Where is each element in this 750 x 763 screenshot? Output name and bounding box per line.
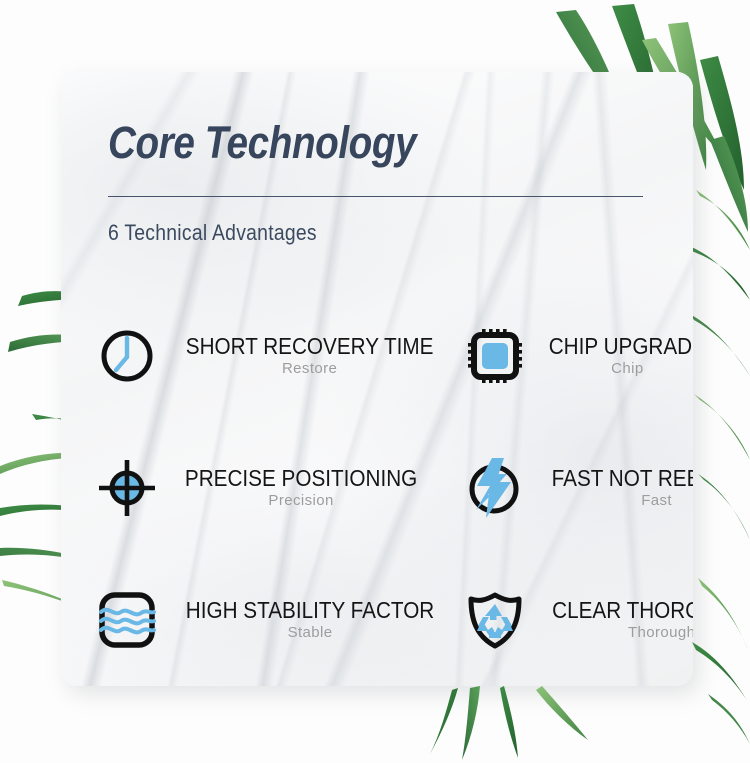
chip-icon [462,323,528,389]
feature-sublabel: Fast [641,493,672,510]
feature-sublabel: Thorough [628,625,693,642]
advantages-grid: SHORT RECOVERY TIME Restore [94,290,669,686]
page-title: Core Technology [108,117,416,169]
feature-label: CHIP UPGRADE [549,334,693,358]
leaf-cluster-bottom-right [692,578,750,744]
feature-label: SHORT RECOVERY TIME [186,334,434,358]
feature-text: FAST NOT REBOUND Fast [540,466,693,510]
feature-item: HIGH STABILITY FACTOR Stable [94,554,448,686]
recycle-shield-icon [462,587,528,653]
leaf-cluster-right [684,190,750,540]
poster-canvas: Core Technology 6 Technical Advantages S… [0,0,750,763]
clock-icon [94,323,160,389]
lightning-bolt-icon [462,455,528,521]
feature-label: FAST NOT REBOUND [552,466,693,490]
feature-text: CLEAR THOROUGHLY Thorough [540,598,693,642]
feature-label: PRECISE POSITIONING [185,466,417,490]
feature-sublabel: Chip [611,361,643,378]
crosshair-icon [94,455,160,521]
feature-label: HIGH STABILITY FACTOR [186,598,434,622]
feature-text: HIGH STABILITY FACTOR Stable [172,598,448,642]
feature-item: SHORT RECOVERY TIME Restore [94,290,448,422]
feature-label: CLEAR THOROUGHLY [552,598,693,622]
feature-item: CLEAR THOROUGHLY Thorough [462,554,693,686]
feature-sublabel: Restore [282,361,337,378]
feature-item: PRECISE POSITIONING Precision [94,422,448,554]
core-technology-card: Core Technology 6 Technical Advantages S… [61,72,693,686]
page-subtitle: 6 Technical Advantages [108,220,317,246]
feature-item: FAST NOT REBOUND Fast [462,422,693,554]
feature-sublabel: Precision [268,493,333,510]
title-divider [108,196,643,197]
water-waves-icon [94,587,160,653]
feature-text: PRECISE POSITIONING Precision [172,466,430,510]
feature-sublabel: Stable [288,625,333,642]
feature-item: CHIP UPGRADE Chip [462,290,693,422]
leaf-cluster-bottom [430,686,588,760]
feature-text: CHIP UPGRADE Chip [540,334,693,378]
feature-text: SHORT RECOVERY TIME Restore [172,334,447,378]
